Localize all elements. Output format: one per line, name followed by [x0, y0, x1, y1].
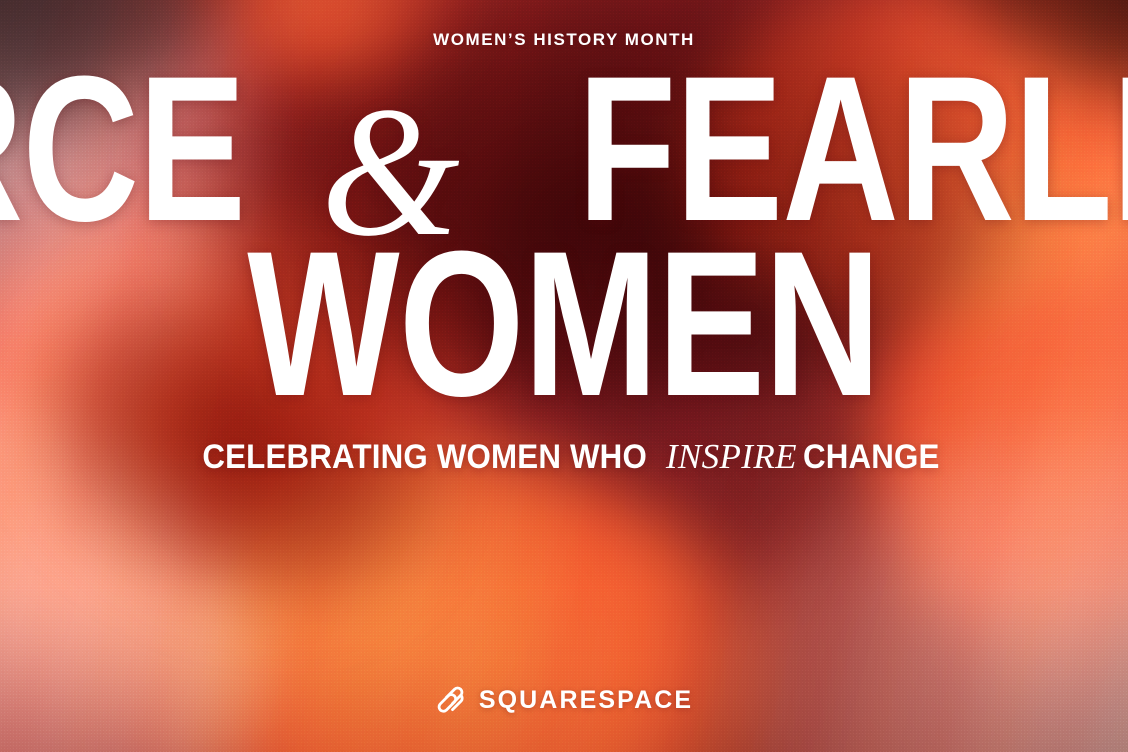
subtitle-text-before: CELEBRATING WOMEN WHO — [202, 440, 647, 474]
headline: FIERCE&FEARLESS WOMEN — [0, 58, 1128, 413]
headline-word-women: WOMEN — [248, 233, 881, 415]
subtitle: CELEBRATING WOMEN WHO INSPIRE CHANGE — [183, 439, 946, 474]
squarespace-wordmark: SQUARESPACE — [479, 688, 693, 713]
subtitle-text-after: CHANGE — [803, 440, 940, 474]
headline-word-fierce: FIERCE — [0, 58, 245, 240]
squarespace-loop-icon — [435, 685, 466, 716]
poster-canvas: WOMEN’S HISTORY MONTH FIERCE&FEARLESS WO… — [0, 0, 1128, 752]
poster-content: WOMEN’S HISTORY MONTH FIERCE&FEARLESS WO… — [0, 0, 1128, 752]
squarespace-logo-lockup[interactable]: SQUARESPACE — [0, 685, 1128, 716]
subtitle-emphasis: INSPIRE — [666, 437, 797, 476]
